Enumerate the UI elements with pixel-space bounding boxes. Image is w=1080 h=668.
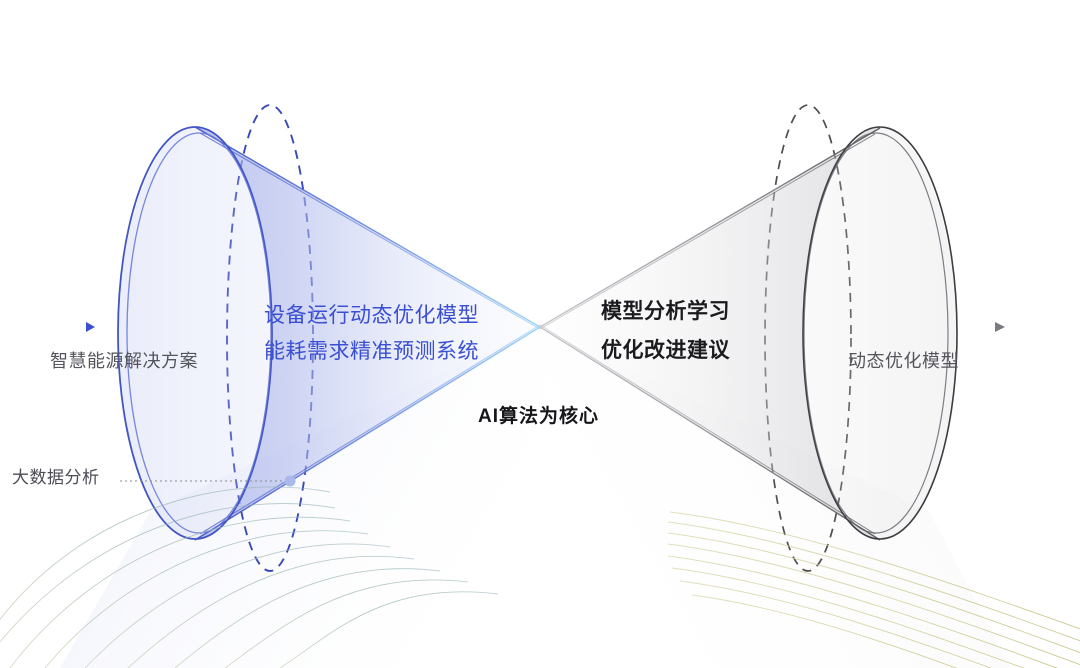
diagram-canvas: 设备运行动态优化模型 能耗需求精准预测系统 智慧能源解决方案 大数据分析 模型分… [0,0,1080,668]
diagram-illustration [0,0,1080,668]
callout-dot [285,476,296,487]
